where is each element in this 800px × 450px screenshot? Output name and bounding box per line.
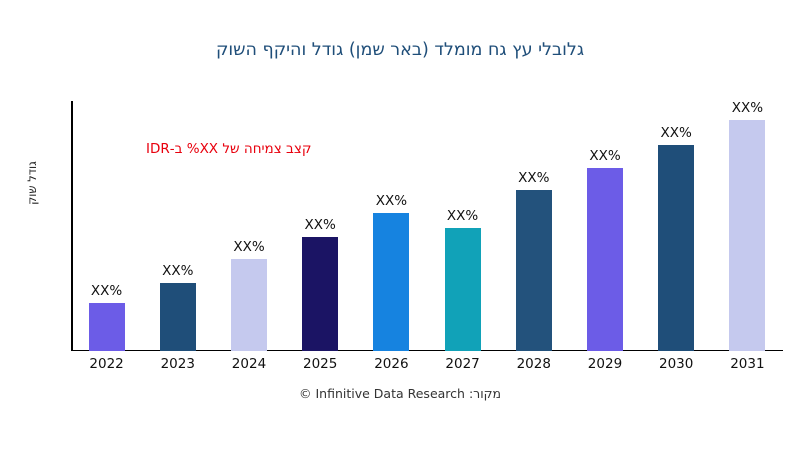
x-tick-2025: 2025 — [285, 356, 356, 372]
bar-value-label-2030: XX% — [661, 125, 692, 141]
bar-2023[interactable]: XX% — [160, 101, 196, 351]
x-tick-2029: 2029 — [569, 356, 640, 372]
bar-rect-2023[interactable] — [160, 283, 196, 351]
y-axis-label: גודל שוק — [25, 161, 39, 205]
x-tick-2022: 2022 — [71, 356, 142, 372]
x-axis-ticks: 2022202320242025202620272028202920302031 — [71, 356, 783, 380]
bar-rect-2031[interactable] — [729, 120, 765, 351]
bar-rect-2027[interactable] — [445, 228, 481, 351]
x-tick-2030: 2030 — [641, 356, 712, 372]
bar-2027[interactable]: XX% — [445, 101, 481, 351]
x-tick-2026: 2026 — [356, 356, 427, 372]
bar-value-label-2022: XX% — [91, 283, 122, 299]
x-tick-2031: 2031 — [712, 356, 783, 372]
bar-rect-2026[interactable] — [373, 213, 409, 351]
bar-rect-2028[interactable] — [516, 190, 552, 351]
bar-2026[interactable]: XX% — [373, 101, 409, 351]
x-tick-2023: 2023 — [142, 356, 213, 372]
source-note: מקור: Infinitive Data Research © — [0, 386, 800, 401]
bar-value-label-2028: XX% — [518, 170, 549, 186]
x-tick-2028: 2028 — [498, 356, 569, 372]
bar-value-label-2026: XX% — [376, 193, 407, 209]
x-tick-2027: 2027 — [427, 356, 498, 372]
bar-rect-2025[interactable] — [302, 237, 338, 351]
bar-value-label-2024: XX% — [233, 239, 264, 255]
bar-rect-2024[interactable] — [231, 259, 267, 351]
bar-2025[interactable]: XX% — [302, 101, 338, 351]
bar-rect-2029[interactable] — [587, 168, 623, 351]
bar-rect-2030[interactable] — [658, 145, 694, 351]
bar-value-label-2023: XX% — [162, 263, 193, 279]
bar-value-label-2027: XX% — [447, 208, 478, 224]
bar-2024[interactable]: XX% — [231, 101, 267, 351]
bar-2031[interactable]: XX% — [729, 101, 765, 351]
y-axis-label-wrap: גודל שוק — [22, 128, 42, 238]
x-tick-2024: 2024 — [213, 356, 284, 372]
bar-value-label-2025: XX% — [305, 217, 336, 233]
bar-2030[interactable]: XX% — [658, 101, 694, 351]
bar-2022[interactable]: XX% — [89, 101, 125, 351]
chart-container: גלובלי עץ גח מומלד (באר שמן) גודל והיקף … — [0, 0, 800, 450]
bar-value-label-2029: XX% — [589, 148, 620, 164]
bar-2028[interactable]: XX% — [516, 101, 552, 351]
bar-rect-2022[interactable] — [89, 303, 125, 351]
bar-value-label-2031: XX% — [732, 100, 763, 116]
bars-layer: XX%XX%XX%XX%XX%XX%XX%XX%XX%XX% — [71, 101, 783, 351]
bar-2029[interactable]: XX% — [587, 101, 623, 351]
chart-title: גלובלי עץ גח מומלד (באר שמן) גודל והיקף … — [0, 40, 800, 60]
